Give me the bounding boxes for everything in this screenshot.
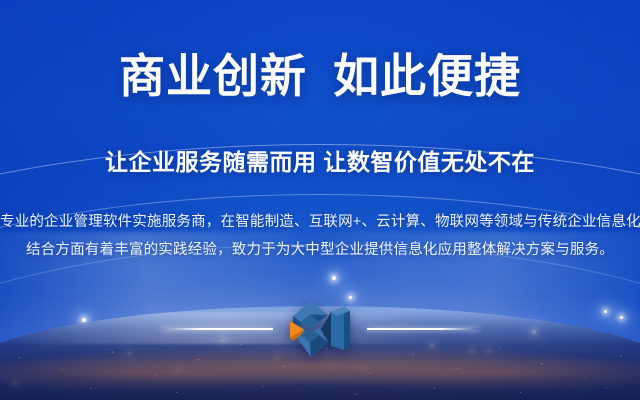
description-line-2: 结合方面有着丰富的实践经验，致力于为大中型企业提供信息化应用整体解决方案与服务。 [0, 236, 640, 264]
logo-lockup [0, 300, 640, 358]
headline-part-1: 商业创新 [119, 50, 307, 102]
hero-banner: 商业创新如此便捷 让企业服务随需而用 让数智价值无处不在 专业的企业管理软件实施… [0, 0, 640, 400]
banner-content: 商业创新如此便捷 让企业服务随需而用 让数智价值无处不在 专业的企业管理软件实施… [0, 0, 640, 400]
subheadline: 让企业服务随需而用 让数智价值无处不在 [0, 143, 640, 177]
description: 专业的企业管理软件实施服务商，在智能制造、互联网+、云计算、物联网等领域与传统企… [0, 208, 640, 265]
company-logo-icon [289, 300, 351, 358]
headline-part-2: 如此便捷 [333, 50, 521, 102]
headline: 商业创新如此便捷 [0, 50, 640, 103]
divider-rule-left [161, 328, 273, 330]
divider-rule-right [367, 328, 479, 330]
description-line-1: 专业的企业管理软件实施服务商，在智能制造、互联网+、云计算、物联网等领域与传统企… [0, 208, 640, 236]
